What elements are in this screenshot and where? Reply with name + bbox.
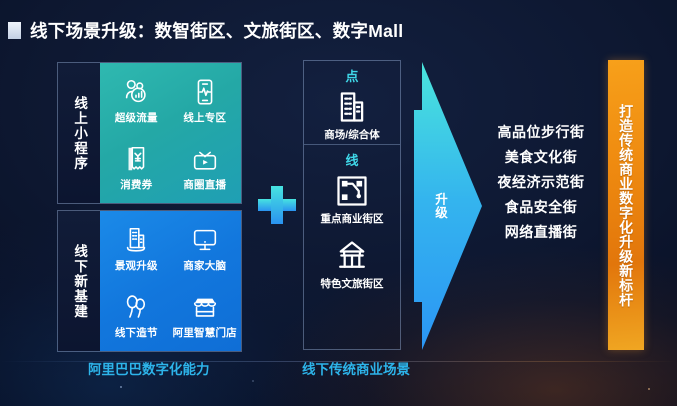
caption-alibaba-capability: 阿里巴巴数字化能力	[88, 358, 210, 378]
tile-label: 商家大脑	[183, 258, 226, 273]
mall-building-icon	[334, 89, 370, 125]
title-marker-icon	[8, 22, 21, 39]
voucher-yuan-icon	[121, 144, 151, 174]
goal-banner-text: 打造传统商业数字化升级新标杆	[619, 104, 633, 307]
plus-icon	[258, 186, 296, 224]
plus-bar-vertical	[271, 186, 283, 224]
result-item: 网络直播街	[480, 220, 602, 245]
scene-item-key-commercial-street[interactable]: 重点商业街区	[321, 173, 384, 226]
alibaba-capability-panel: 线上小程序 超级流量	[57, 62, 242, 352]
block-online-label-text: 线上小程序	[72, 96, 86, 171]
block-offline-tiles: 景观升级 商家大脑	[100, 211, 241, 351]
goal-banner: 打造传统商业数字化升级新标杆	[608, 60, 644, 350]
street-map-icon	[334, 173, 370, 209]
offline-scene-panel: 点 商场/综合体 线	[303, 60, 401, 350]
mobile-phone-icon	[190, 77, 220, 107]
user-traffic-icon	[121, 77, 151, 107]
tile-alibaba-smart-store[interactable]: 阿里智慧门店	[171, 282, 240, 349]
scene-item-mall[interactable]: 商场/综合体	[324, 89, 379, 142]
page-title: 线下场景升级：数智街区、文旅街区、数字Mall	[8, 18, 403, 43]
tile-label: 消费券	[120, 177, 152, 192]
building-icon	[121, 225, 151, 255]
tile-label: 景观升级	[115, 258, 158, 273]
tile-online-zone[interactable]: 线上专区	[171, 67, 240, 134]
tile-label: 线下造节	[115, 325, 158, 340]
upgrade-arrow: 升级	[410, 62, 486, 350]
tile-offline-festival[interactable]: 线下造节	[102, 282, 171, 349]
block-offline-label-text: 线下新基建	[72, 244, 86, 319]
balloons-icon	[121, 292, 151, 322]
page-title-text: 线下场景升级：数智街区、文旅街区、数字Mall	[30, 18, 403, 43]
result-item: 食品安全街	[480, 195, 602, 220]
block-online-tiles: 超级流量 线上专区 消费券	[100, 63, 241, 203]
scene-item-label: 商场/综合体	[324, 127, 379, 142]
result-list: 高品位步行街 美食文化街 夜经济示范街 食品安全街 网络直播街	[480, 120, 602, 245]
block-online-miniprogram[interactable]: 线上小程序 超级流量	[57, 62, 242, 204]
tile-label: 超级流量	[115, 110, 158, 125]
spark-dot	[252, 380, 254, 382]
caption-offline-scene: 线下传统商业场景	[302, 358, 410, 378]
scene-heading-line: 线	[345, 150, 358, 169]
tile-voucher[interactable]: 消费券	[102, 134, 171, 201]
scene-section-line: 线 重点商业街区	[304, 145, 400, 348]
tile-merchant-brain[interactable]: 商家大脑	[171, 215, 240, 282]
tv-live-icon	[190, 144, 220, 174]
tile-super-traffic[interactable]: 超级流量	[102, 67, 171, 134]
scene-item-label: 特色文旅街区	[321, 276, 384, 291]
result-item: 夜经济示范街	[480, 170, 602, 195]
scene-heading-point: 点	[345, 66, 358, 85]
tile-label: 线上专区	[183, 110, 226, 125]
upgrade-arrow-label: 升级	[431, 193, 450, 220]
tile-label: 阿里智慧门店	[173, 325, 237, 340]
slide-canvas: 线下场景升级：数智街区、文旅街区、数字Mall 线上小程序 超级流量	[0, 0, 677, 406]
spark-dot	[120, 386, 122, 388]
tile-district-livestream[interactable]: 商圈直播	[171, 134, 240, 201]
scene-item-cultural-tourism-street[interactable]: 特色文旅街区	[321, 238, 384, 291]
block-offline-infrastructure[interactable]: 线下新基建 景观升级	[57, 210, 242, 352]
block-offline-label: 线下新基建	[58, 211, 100, 351]
result-item: 高品位步行街	[480, 120, 602, 145]
scene-section-point: 点 商场/综合体	[304, 61, 400, 145]
tile-landscape-upgrade[interactable]: 景观升级	[102, 215, 171, 282]
pavilion-icon	[334, 238, 370, 274]
monitor-icon	[190, 225, 220, 255]
block-online-label: 线上小程序	[58, 63, 100, 203]
result-item: 美食文化街	[480, 145, 602, 170]
spark-dot	[648, 388, 650, 390]
scene-item-label: 重点商业街区	[321, 211, 384, 226]
storefront-icon	[190, 292, 220, 322]
tile-label: 商圈直播	[183, 177, 226, 192]
